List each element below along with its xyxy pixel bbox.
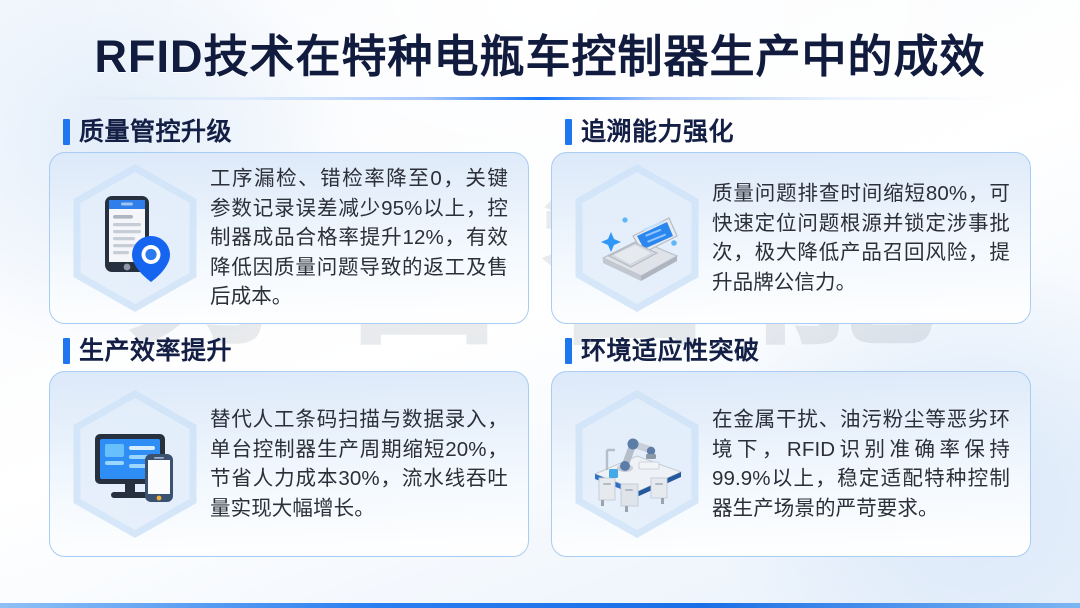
title-divider xyxy=(70,97,1010,100)
icon-cell xyxy=(562,389,712,539)
icon-cell xyxy=(60,163,210,313)
laptop-sparkle-icon xyxy=(585,186,689,290)
monitor-phone-icon xyxy=(83,412,187,516)
accent-bar-icon xyxy=(565,338,572,364)
card-body: 质量问题排查时间缩短80%，可快速定位问题根源并锁定涉事批次，极大降低产品召回风… xyxy=(712,179,1012,297)
card-title: 追溯能力强化 xyxy=(581,120,734,145)
card-body: 工序漏检、错检率降至0，关键参数记录误差减少95%以上，控制器成品合格率提升12… xyxy=(210,164,510,312)
card-heading: 追溯能力强化 xyxy=(551,119,1031,145)
card-body: 替代人工条码扫描与数据录入，单台控制器生产周期缩短20%，节省人力成本30%，流… xyxy=(210,405,510,523)
icon-cell xyxy=(562,163,712,313)
card-heading: 环境适应性突破 xyxy=(551,338,1031,364)
accent-bar-icon xyxy=(565,119,572,145)
card-panel[interactable]: 质量问题排查时间缩短80%，可快速定位问题根源并锁定涉事批次，极大降低产品召回风… xyxy=(551,152,1031,324)
card-title: 生产效率提升 xyxy=(79,339,232,364)
cards-grid: 质量管控升级 xyxy=(49,119,1031,557)
card-production-efficiency: 生产效率提升 xyxy=(49,338,529,557)
card-environment-adaptability: 环境适应性突破 xyxy=(551,338,1031,557)
card-heading: 生产效率提升 xyxy=(49,338,529,364)
header: RFID技术在特种电瓶车控制器生产中的成效 xyxy=(0,0,1080,100)
page-title: RFID技术在特种电瓶车控制器生产中的成效 xyxy=(0,30,1080,83)
robot-workbench-icon xyxy=(585,412,689,516)
card-traceability: 追溯能力强化 xyxy=(551,119,1031,324)
icon-cell xyxy=(60,389,210,539)
card-heading: 质量管控升级 xyxy=(49,119,529,145)
accent-bar-icon xyxy=(63,119,70,145)
card-panel[interactable]: 工序漏检、错检率降至0，关键参数记录误差减少95%以上，控制器成品合格率提升12… xyxy=(49,152,529,324)
card-quality-control: 质量管控升级 xyxy=(49,119,529,324)
card-title: 环境适应性突破 xyxy=(581,339,760,364)
card-panel[interactable]: 在金属干扰、油污粉尘等恶劣环境下，RFID识别准确率保持99.9%以上，稳定适配… xyxy=(551,371,1031,557)
bottom-accent-rule xyxy=(0,603,1080,608)
accent-bar-icon xyxy=(63,338,70,364)
card-body: 在金属干扰、油污粉尘等恶劣环境下，RFID识别准确率保持99.9%以上，稳定适配… xyxy=(712,405,1012,523)
phone-location-icon xyxy=(83,186,187,290)
card-title: 质量管控升级 xyxy=(79,120,232,145)
card-panel[interactable]: 替代人工条码扫描与数据录入，单台控制器生产周期缩短20%，节省人力成本30%，流… xyxy=(49,371,529,557)
